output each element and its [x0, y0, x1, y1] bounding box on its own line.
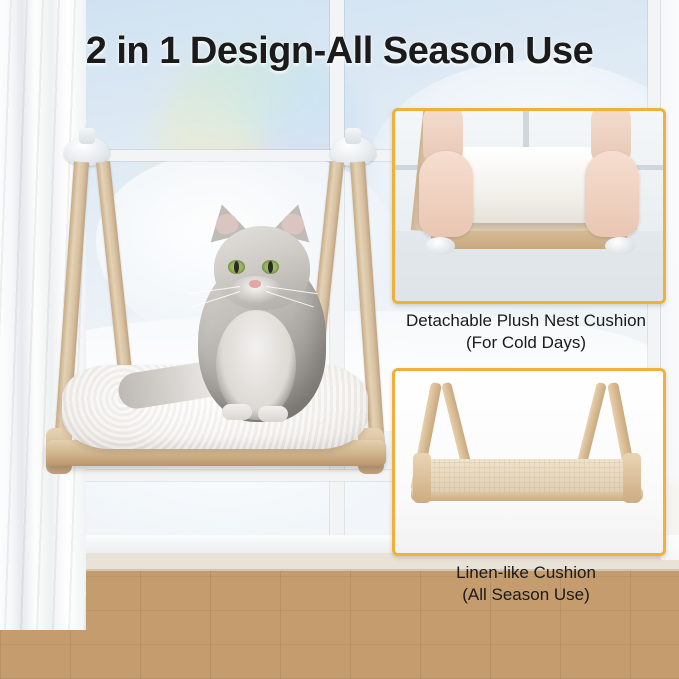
cat-nose	[249, 280, 261, 288]
suction-cup-knob-left	[79, 128, 95, 144]
inset2-post-right	[623, 453, 641, 503]
inset2-caption: Linen-like Cushion (All Season Use)	[382, 562, 670, 606]
cat-eye-right	[262, 260, 279, 274]
inset1-caption-line1: Detachable Plush Nest Cushion	[382, 310, 670, 332]
grey-tabby-cat	[170, 190, 360, 430]
suction-cup-knob-right	[345, 128, 361, 144]
inset1-caption: Detachable Plush Nest Cushion (For Cold …	[382, 310, 670, 354]
cat-paw-left	[222, 404, 252, 420]
inset2-caption-line1: Linen-like Cushion	[382, 562, 670, 584]
inset1-hand-right	[585, 151, 639, 237]
inset1-plush-cushion	[453, 147, 603, 223]
product-image: 2 in 1 Design-All Season Use Detachable …	[0, 0, 679, 679]
cat-eye-left	[228, 260, 245, 274]
inset1-suction-cup-left	[425, 237, 455, 255]
inset2-linen-mat	[429, 459, 625, 493]
inset2-caption-line2: (All Season Use)	[382, 584, 670, 606]
inset1-suction-cup-right	[605, 237, 635, 255]
inset2-post-left	[413, 453, 431, 503]
inset1-hand-left	[419, 151, 473, 237]
inset1-caption-line2: (For Cold Days)	[382, 332, 670, 354]
inset-card-linen-cushion[interactable]	[392, 368, 666, 556]
headline-title: 2 in 1 Design-All Season Use	[0, 30, 679, 73]
inset-card-plush-nest[interactable]	[392, 108, 666, 304]
cat-paw-right	[258, 406, 288, 422]
